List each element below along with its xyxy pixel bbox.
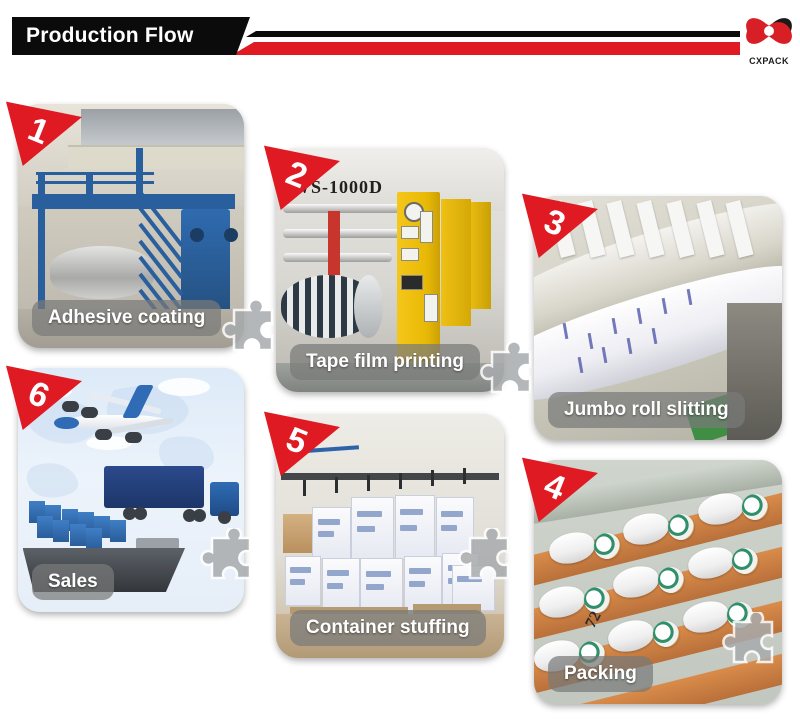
flow-step-4-badge: 4 [522,452,598,522]
page-header: Production Flow CXPACK [0,0,800,88]
puzzle-piece-icon [216,300,286,370]
cxpack-infinity-logo-icon [742,6,796,56]
flow-step-6-caption: Sales [32,564,114,600]
flow-step-6-number: 6 [0,348,87,441]
production-flow-page: Production Flow CXPACK [0,0,800,723]
flow-step-1-caption: Adhesive coating [32,300,221,336]
flow-step-4-number: 4 [506,440,603,533]
flow-step-1-number: 1 [0,84,87,177]
puzzle-piece-icon [474,342,544,412]
cxpack-logo: CXPACK [742,6,796,72]
flow-step-2-caption: Tape film printing [290,344,480,380]
flow-step-3-number: 3 [506,176,603,269]
flow-step-1-badge: 1 [6,96,82,166]
flow-step-5-badge: 5 [264,406,340,476]
header-rule-red [232,42,740,55]
brand-name: CXPACK [742,56,796,66]
flow-step-2-number: 2 [248,128,345,221]
flow-step-6-badge: 6 [6,360,82,430]
page-title-block: Production Flow [12,17,228,55]
puzzle-piece-icon [452,528,522,598]
flow-step-3-caption: Jumbo roll slitting [548,392,745,428]
flow-step-3-badge: 3 [522,188,598,258]
flow-step-2-badge: 2 [264,140,340,210]
header-rule-black [246,31,740,37]
flow-step-5-caption: Container stuffing [290,610,486,646]
flow-step-5-number: 5 [248,394,345,487]
flow-step-4-caption: Packing [548,656,653,692]
puzzle-piece-icon [194,528,264,598]
page-title: Production Flow [26,23,193,49]
puzzle-piece-icon [716,612,786,682]
